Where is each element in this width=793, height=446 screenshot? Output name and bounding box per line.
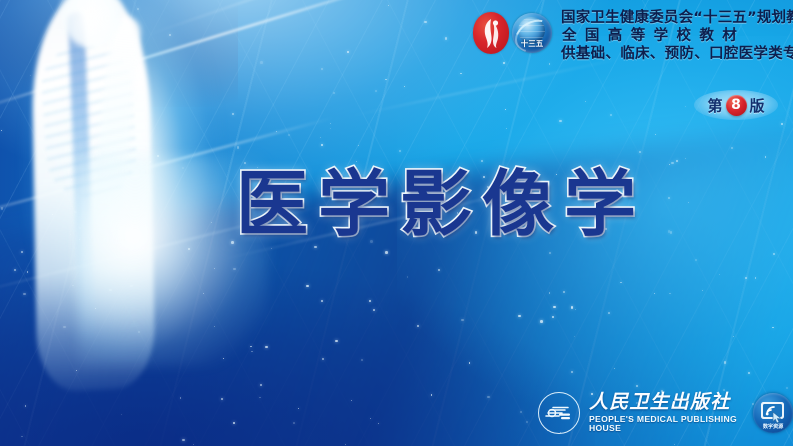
header-line-plan: 国家卫生健康委员会“十三五”规划教材 [561, 9, 793, 27]
human-anatomy-figure [0, 0, 262, 416]
header-logos: 十三五 [473, 8, 552, 54]
digital-resource-badge-icon: 数字资源 [753, 393, 793, 433]
edition-badge: 第 8 版 [694, 90, 778, 120]
pmph-red-emblem-icon [473, 12, 509, 54]
five-year-plan-globe-icon: 十三五 [512, 13, 552, 53]
header-text-lines: 国家卫生健康委员会“十三五”规划教材 全国高等学校教材 供基础、临床、预防、口腔… [561, 8, 793, 63]
book-title: 医学影像学 [236, 163, 646, 245]
header-block: 十三五 国家卫生健康委员会“十三五”规划教材 全国高等学校教材 供基础、临床、预… [473, 8, 785, 63]
header-line-audience: 供基础、临床、预防、口腔医学类专业用 [561, 45, 793, 63]
book-cover: 十三五 国家卫生健康委员会“十三五”规划教材 全国高等学校教材 供基础、临床、预… [0, 0, 793, 446]
publisher-names: 人民卫生出版社 PEOPLE'S MEDICAL PUBLISHING HOUS… [589, 393, 738, 432]
digital-resource-badge-label: 数字资源 [753, 424, 793, 430]
publisher-name-cn: 人民卫生出版社 [589, 393, 738, 412]
edition-suffix: 版 [750, 95, 765, 116]
pmph-circular-mark-icon [538, 392, 580, 434]
edition-number: 8 [726, 95, 747, 116]
edition-prefix: 第 [707, 95, 722, 116]
publisher-block: 人民卫生出版社 PEOPLE'S MEDICAL PUBLISHING HOUS… [538, 392, 793, 434]
header-line-national: 全国高等学校教材 [561, 27, 793, 45]
publisher-name-en: PEOPLE'S MEDICAL PUBLISHING HOUSE [589, 415, 738, 432]
globe-label: 十三五 [512, 40, 552, 48]
